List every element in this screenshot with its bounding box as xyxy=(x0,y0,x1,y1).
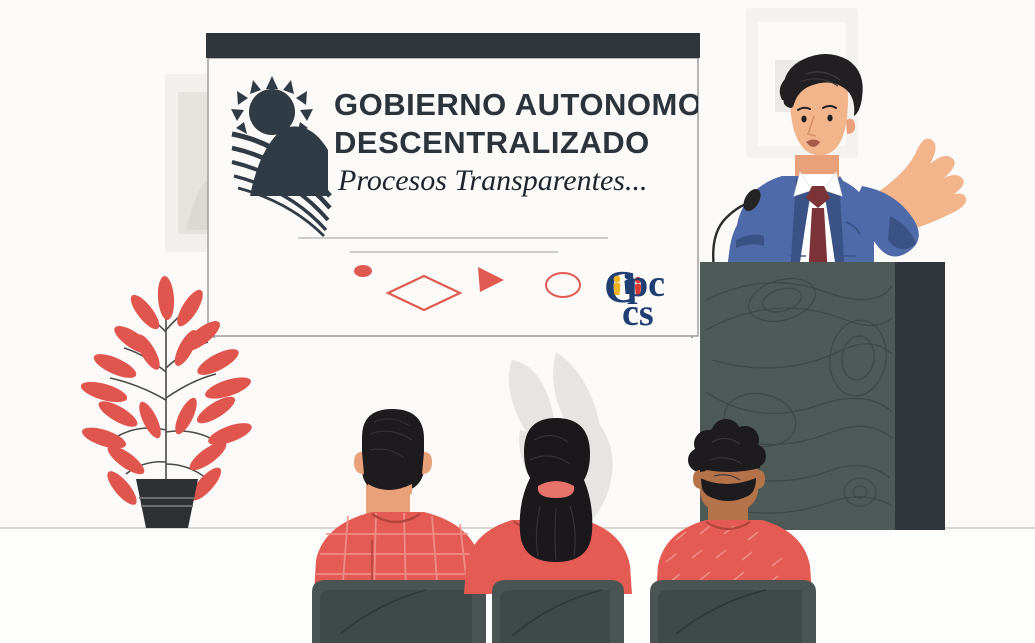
plant-pot xyxy=(136,479,198,528)
screen-roller xyxy=(206,33,700,58)
slide-title-line1: GOBIERNO AUTONOMO xyxy=(334,87,702,122)
slide-title-line2: DESCENTRALIZADO xyxy=(334,125,650,160)
illustration-canvas: GOBIERNO AUTONOMO DESCENTRALIZADO Proces… xyxy=(0,0,1035,643)
podium-side-panel xyxy=(895,262,945,530)
slide-tagline: Procesos Transparentes... xyxy=(337,164,647,197)
red-dot-icon xyxy=(354,265,372,277)
cpccs-letters-bottom: cs xyxy=(622,292,654,334)
